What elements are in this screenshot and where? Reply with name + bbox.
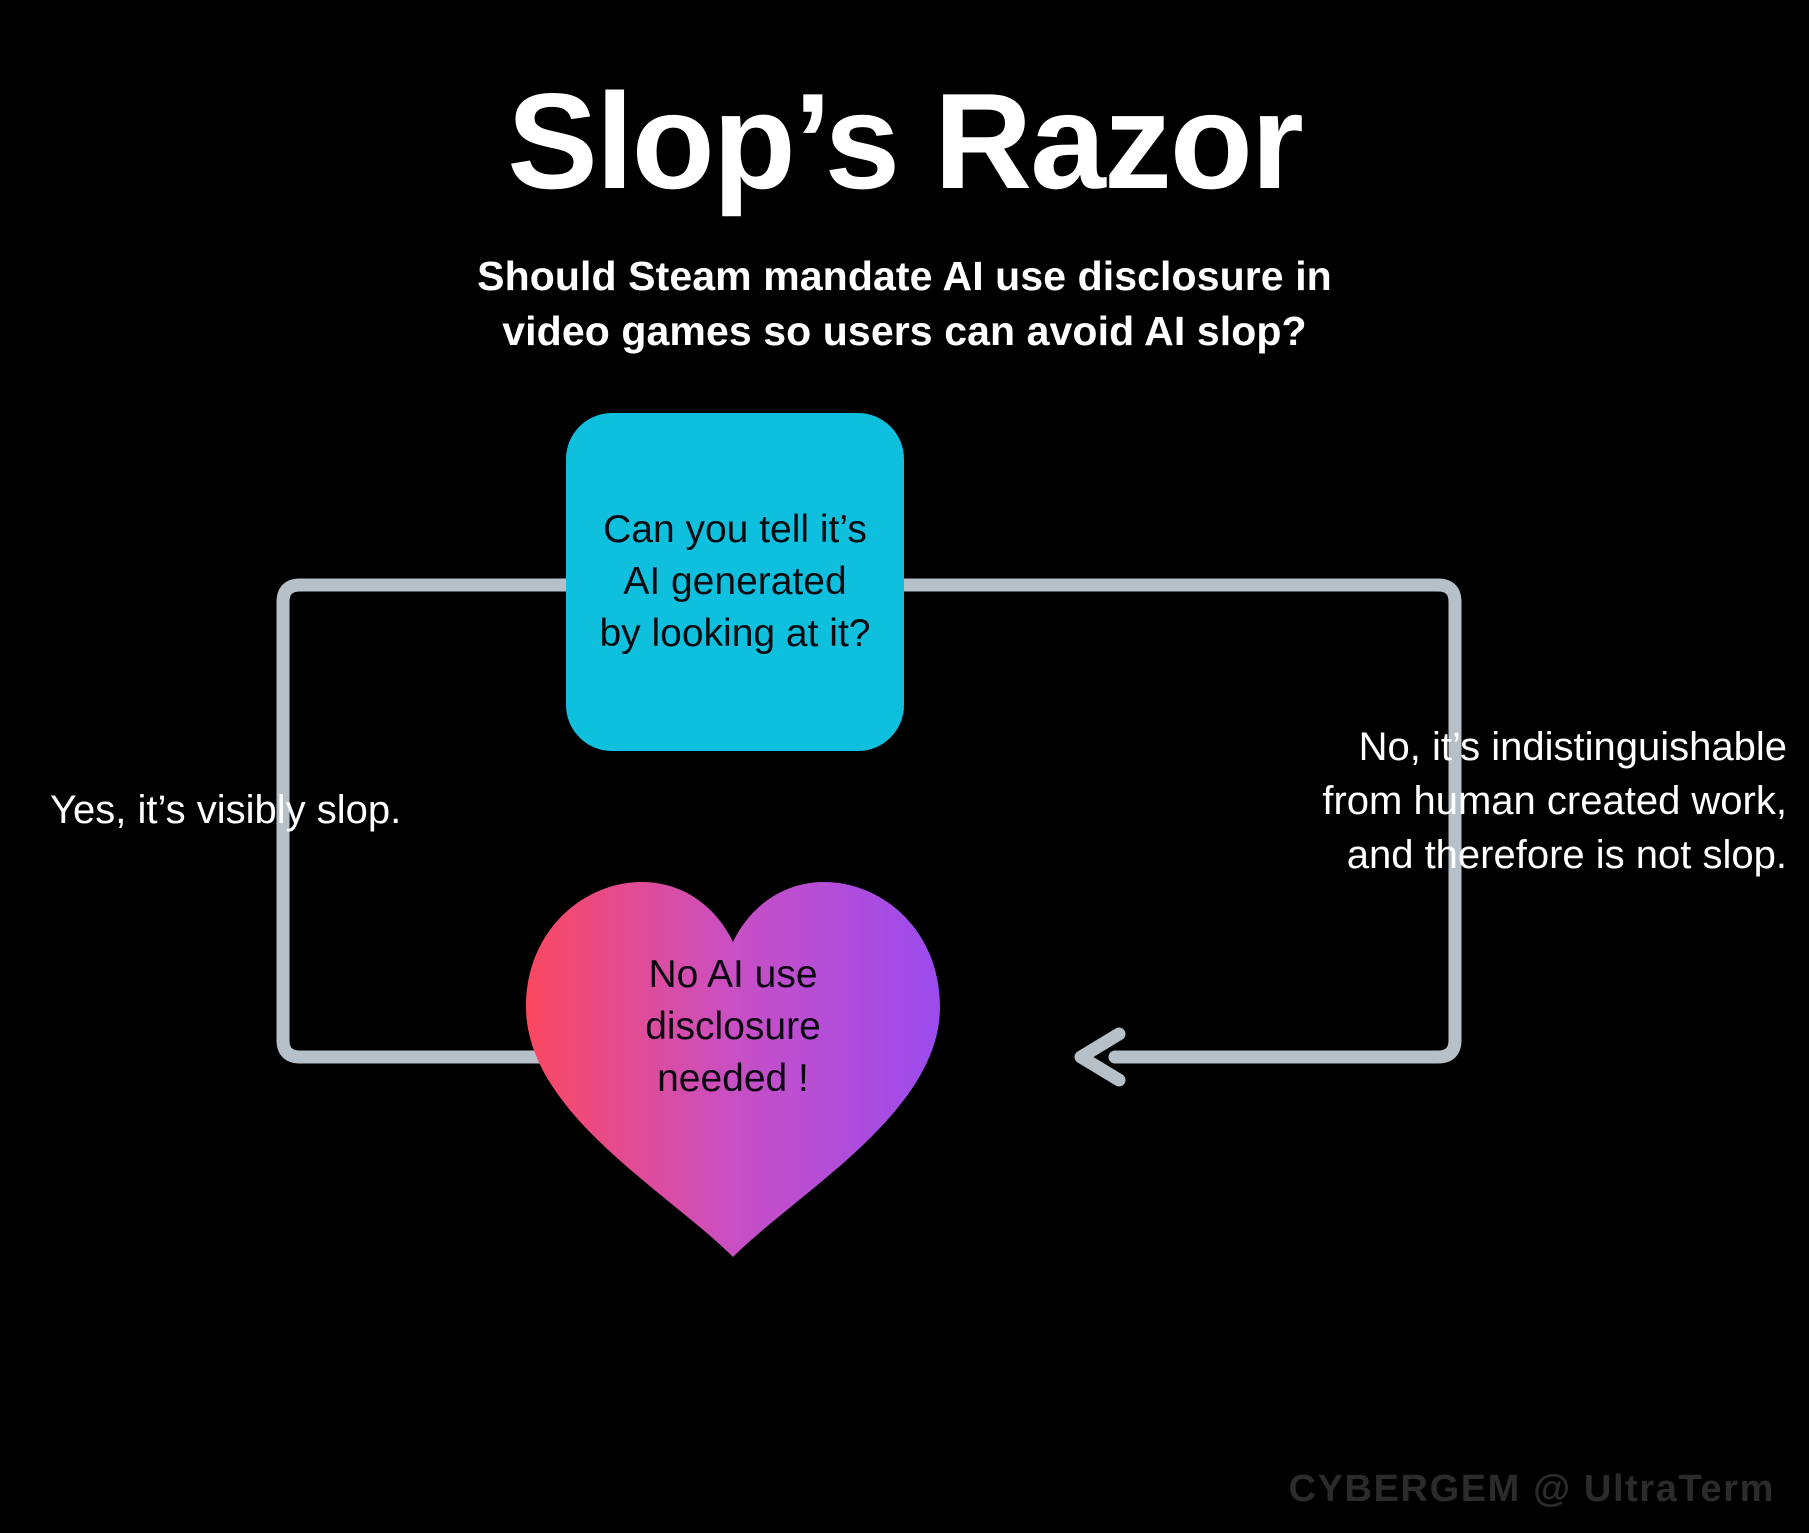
outcome-line-2: disclosure xyxy=(645,1001,821,1053)
outcome-node-heart[interactable]: No AI use disclosure needed ! xyxy=(518,872,948,1257)
decision-line-3: by looking at it? xyxy=(599,608,870,660)
no-branch-arrowhead xyxy=(1081,1034,1119,1080)
decision-node-can-you-tell[interactable]: Can you tell it’s AI generated by lookin… xyxy=(566,413,904,751)
edge-label-no-branch: No, it’s indistinguishable from human cr… xyxy=(1147,720,1787,882)
page-title: Slop’s Razor xyxy=(0,0,1809,211)
edge-label-yes-branch: Yes, it’s visibly slop. xyxy=(50,783,470,837)
edge-label-no-line-3: and therefore is not slop. xyxy=(1147,828,1787,882)
infographic-canvas: Slop’s Razor Should Steam mandate AI use… xyxy=(0,0,1809,1533)
watermark: CYBERGEM @ UltraTerm xyxy=(1289,1468,1775,1511)
decision-line-2: AI generated xyxy=(599,556,870,608)
subtitle-line-2: video games so users can avoid AI slop? xyxy=(0,304,1809,359)
decision-line-1: Can you tell it’s xyxy=(599,504,870,556)
edge-label-yes-text: Yes, it’s visibly slop. xyxy=(50,783,470,837)
edge-label-no-line-2: from human created work, xyxy=(1147,774,1787,828)
edge-label-no-line-1: No, it’s indistinguishable xyxy=(1147,720,1787,774)
page-subtitle: Should Steam mandate AI use disclosure i… xyxy=(0,211,1809,360)
outcome-line-1: No AI use xyxy=(645,949,821,1001)
decision-node-label: Can you tell it’s AI generated by lookin… xyxy=(589,504,880,660)
outcome-node-label: No AI use disclosure needed ! xyxy=(518,872,948,1182)
header: Slop’s Razor Should Steam mandate AI use… xyxy=(0,0,1809,359)
outcome-line-3: needed ! xyxy=(645,1053,821,1105)
subtitle-line-1: Should Steam mandate AI use disclosure i… xyxy=(0,249,1809,304)
